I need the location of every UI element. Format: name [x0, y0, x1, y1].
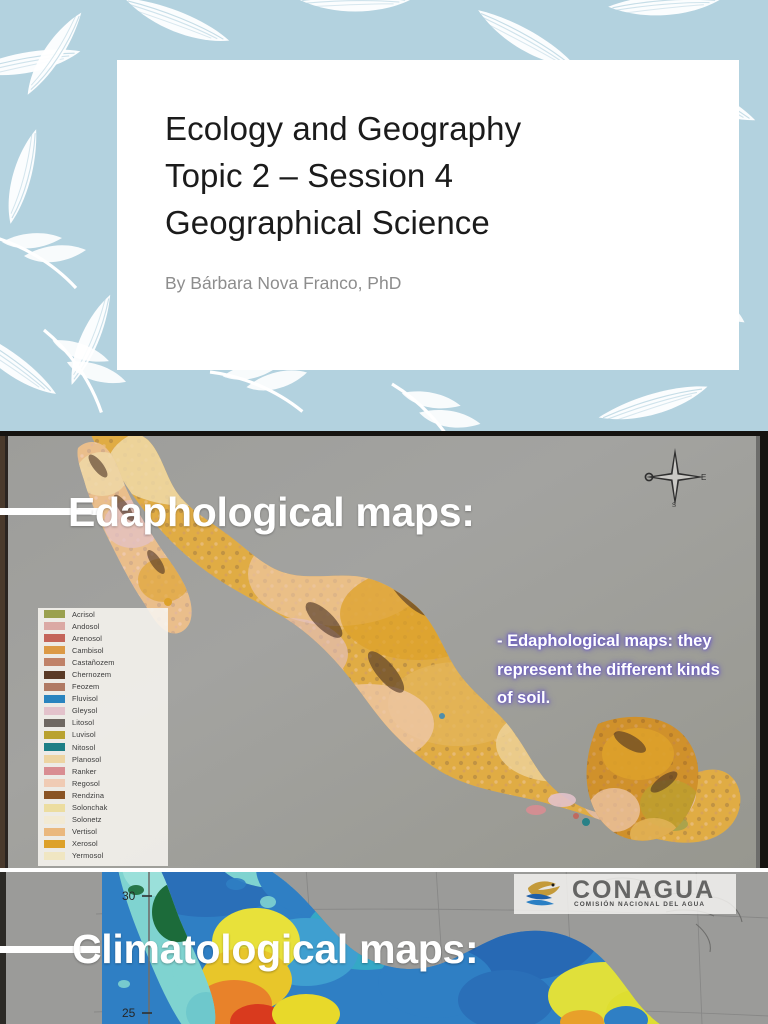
conagua-subtitle: COMISIÓN NACIONAL DEL AGUA	[574, 901, 705, 908]
legend-item: Solonetz	[38, 814, 168, 826]
legend-item: Planosol	[38, 753, 168, 765]
lat-tick-30: 30	[122, 889, 136, 903]
legend-swatch	[44, 646, 65, 654]
legend-swatch	[44, 695, 65, 703]
legend-item: Ranker	[38, 765, 168, 777]
slide-title: Ecology and Geography Topic 2 – Session …	[0, 0, 768, 431]
legend-item: Acrisol	[38, 608, 168, 620]
slide2-top-border	[0, 431, 768, 436]
legend-label: Yermosol	[72, 851, 103, 860]
slide2-left-edge-inner	[5, 436, 8, 868]
page-title: Ecology and Geography Topic 2 – Session …	[165, 106, 739, 247]
lat-tick-25: 25	[122, 1006, 136, 1020]
legend-item: Vertisol	[38, 826, 168, 838]
legend-label: Acrisol	[72, 610, 95, 619]
legend-label: Arenosol	[72, 634, 102, 643]
legend-item: Chernozem	[38, 668, 168, 680]
title-card: Ecology and Geography Topic 2 – Session …	[117, 60, 739, 370]
legend-swatch	[44, 610, 65, 618]
legend-item: Fluvisol	[38, 693, 168, 705]
legend-label: Rendzina	[72, 791, 104, 800]
legend-label: Solonchak	[72, 803, 107, 812]
slide-climatological-maps: 30 25 CONAGUA COMISIÓN NACIONAL DEL AGUA…	[0, 868, 768, 1024]
legend-item: Feozem	[38, 681, 168, 693]
title-line-1: Ecology and Geography	[165, 106, 739, 153]
legend-item: Andosol	[38, 620, 168, 632]
legend-label: Xerosol	[72, 839, 98, 848]
legend-label: Chernozem	[72, 670, 111, 679]
legend-item: Yermosol	[38, 850, 168, 862]
conagua-logo-block: CONAGUA COMISIÓN NACIONAL DEL AGUA	[514, 874, 736, 914]
legend-item: Castañozem	[38, 656, 168, 668]
legend-item: Luvisol	[38, 729, 168, 741]
slide3-top-border	[0, 868, 768, 872]
svg-text:E: E	[701, 473, 706, 482]
soil-legend: AcrisolAndosolArenosolCambisolCastañozem…	[38, 608, 168, 866]
slide-edaphological-maps: E S AcrisolAndosolArenosolCambisolCastañ…	[0, 431, 768, 868]
title-line-3: Geographical Science	[165, 200, 739, 247]
svg-text:S: S	[672, 503, 676, 508]
legend-item: Litosol	[38, 717, 168, 729]
legend-swatch	[44, 731, 65, 739]
slide2-right-edge-inner	[756, 436, 760, 868]
legend-swatch	[44, 767, 65, 775]
legend-swatch	[44, 671, 65, 679]
legend-label: Regosol	[72, 779, 100, 788]
legend-label: Planosol	[72, 755, 101, 764]
legend-label: Cambisol	[72, 646, 104, 655]
legend-label: Feozem	[72, 682, 99, 691]
legend-swatch	[44, 840, 65, 848]
slide3-title: Climatological maps:	[72, 926, 478, 973]
legend-item: Arenosol	[38, 632, 168, 644]
legend-swatch	[44, 791, 65, 799]
legend-swatch	[44, 828, 65, 836]
slide2-callout-text: - Edaphological maps: they represent the…	[497, 627, 721, 713]
legend-swatch	[44, 707, 65, 715]
legend-swatch	[44, 852, 65, 860]
legend-item: Rendzina	[38, 789, 168, 801]
legend-item: Nitosol	[38, 741, 168, 753]
legend-item: Regosol	[38, 777, 168, 789]
legend-label: Fluvisol	[72, 694, 98, 703]
slide2-title: Edaphological maps:	[68, 489, 475, 536]
legend-label: Solonetz	[72, 815, 102, 824]
legend-item: Cambisol	[38, 644, 168, 656]
legend-item: Gleysol	[38, 705, 168, 717]
title-line-2: Topic 2 – Session 4	[165, 153, 739, 200]
legend-swatch	[44, 779, 65, 787]
legend-swatch	[44, 683, 65, 691]
legend-swatch	[44, 743, 65, 751]
conagua-eagle-wave-icon	[522, 878, 566, 910]
legend-item: Xerosol	[38, 838, 168, 850]
legend-label: Vertisol	[72, 827, 97, 836]
legend-label: Nitosol	[72, 743, 95, 752]
legend-swatch	[44, 719, 65, 727]
legend-swatch	[44, 755, 65, 763]
legend-label: Ranker	[72, 767, 96, 776]
legend-label: Andosol	[72, 622, 99, 631]
presentation-page: Ecology and Geography Topic 2 – Session …	[0, 0, 768, 1024]
legend-swatch	[44, 658, 65, 666]
legend-label: Castañozem	[72, 658, 115, 667]
slide2-right-edge	[760, 436, 768, 868]
compass-rose-icon: E S	[642, 446, 708, 508]
legend-label: Litosol	[72, 718, 94, 727]
legend-swatch	[44, 622, 65, 630]
legend-swatch	[44, 816, 65, 824]
legend-swatch	[44, 804, 65, 812]
legend-swatch	[44, 634, 65, 642]
legend-label: Gleysol	[72, 706, 97, 715]
author-byline: By Bárbara Nova Franco, PhD	[165, 273, 739, 294]
legend-item: Solonchak	[38, 802, 168, 814]
legend-label: Luvisol	[72, 730, 96, 739]
